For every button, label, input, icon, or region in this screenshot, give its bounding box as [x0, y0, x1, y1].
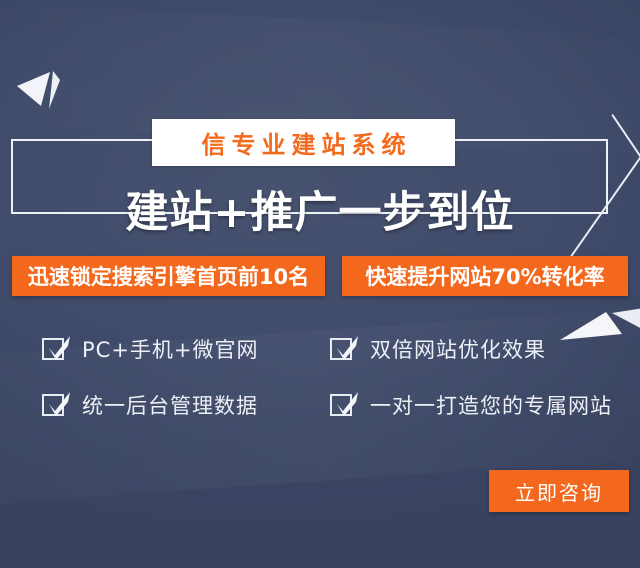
feature-item: PC+手机+微官网 — [42, 332, 259, 366]
paper-plane-icon — [14, 62, 76, 112]
highlight-strip-right-text: 快速提升网站70%转化率 — [365, 261, 604, 291]
consult-now-button[interactable]: 立即咨询 — [489, 470, 629, 512]
checkbox-checked-icon — [42, 338, 64, 360]
feature-item: 一对一打造您的专属网站 — [330, 388, 612, 422]
feature-item-label: 统一后台管理数据 — [82, 390, 258, 420]
tagline-badge-text: 信专业建站系统 — [196, 125, 412, 160]
checkbox-checked-icon — [42, 394, 64, 416]
checkbox-checked-icon — [330, 338, 352, 360]
headline: 建站+推广一步到位 — [0, 178, 640, 240]
highlight-strip-left: 迅速锁定搜索引擎首页前10名 — [12, 256, 325, 296]
feature-item-label: PC+手机+微官网 — [82, 334, 259, 364]
feature-item-label: 双倍网站优化效果 — [370, 334, 546, 364]
feature-item-label: 一对一打造您的专属网站 — [370, 390, 612, 420]
feature-list: PC+手机+微官网 双倍网站优化效果 统一后台管理数据 一对一打造您的专属网站 — [0, 328, 640, 438]
feature-item: 统一后台管理数据 — [42, 388, 258, 422]
highlight-strip-right: 快速提升网站70%转化率 — [342, 256, 628, 296]
consult-now-button-label: 立即咨询 — [515, 477, 603, 506]
feature-item: 双倍网站优化效果 — [330, 332, 546, 366]
checkbox-checked-icon — [330, 394, 352, 416]
highlight-strip-left-text: 迅速锁定搜索引擎首页前10名 — [28, 261, 309, 291]
tagline-badge: 信专业建站系统 — [152, 119, 455, 166]
promo-banner: 信专业建站系统 建站+推广一步到位 迅速锁定搜索引擎首页前10名 快速提升网站7… — [0, 0, 640, 568]
